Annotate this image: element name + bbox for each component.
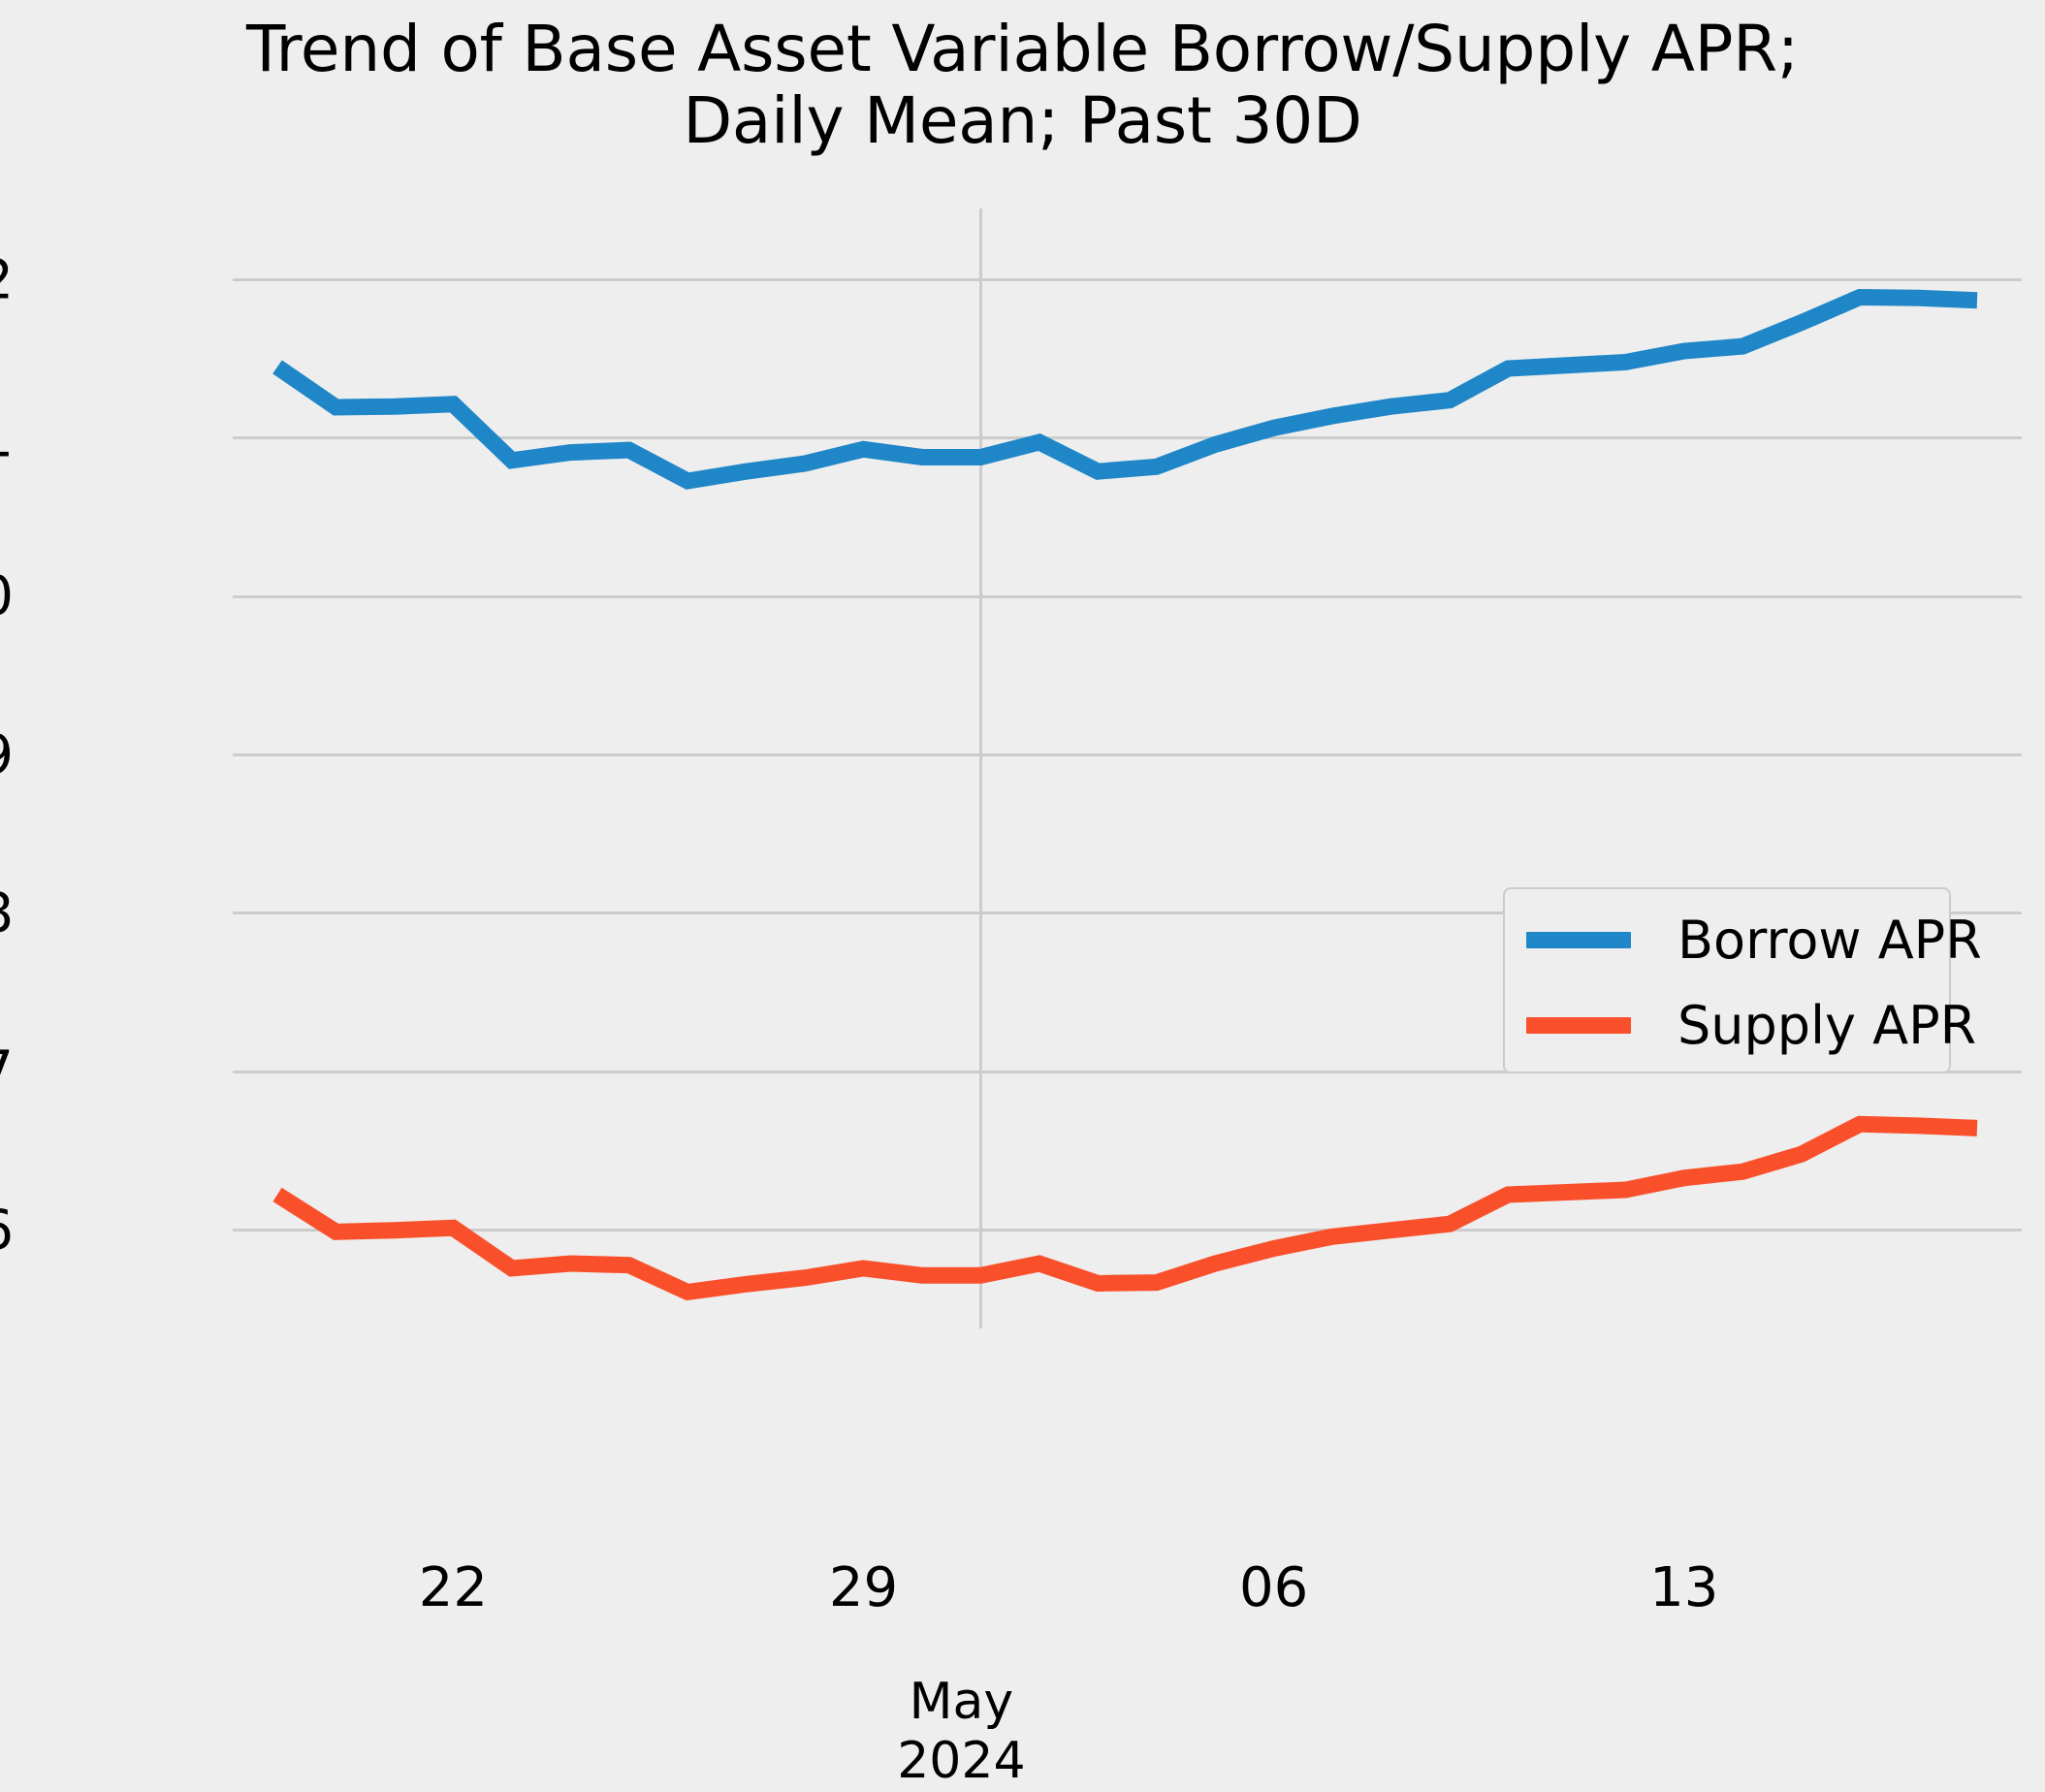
chart-title: Trend of Base Asset Variable Borrow/Supp…	[0, 14, 2045, 157]
legend-label-supply: Supply APR	[1678, 995, 1976, 1056]
x-tick-label: 13	[1649, 1556, 1718, 1619]
legend-entry-supply[interactable]: Supply APR	[1526, 996, 1976, 1054]
legend-swatch-supply-icon	[1526, 1017, 1631, 1034]
y-tick-label: 0.010	[0, 565, 14, 628]
chart-figure: Trend of Base Asset Variable Borrow/Supp…	[0, 0, 2045, 1627]
y-tick-label: 0.006	[0, 1199, 14, 1262]
chart-legend[interactable]: Borrow APR Supply APR	[1503, 887, 1951, 1073]
x-tick-label: 22	[419, 1556, 488, 1619]
x-tick-label: 06	[1239, 1556, 1308, 1619]
y-tick-label: 0.007	[0, 1040, 14, 1104]
plot-area: Borrow APR Supply APR 22290613 May 2024	[233, 208, 2022, 1328]
y-tick-label: 0.009	[0, 723, 14, 786]
legend-entry-borrow[interactable]: Borrow APR	[1526, 911, 1982, 969]
legend-label-borrow: Borrow APR	[1678, 910, 1982, 971]
series-line-supply-apr	[277, 1124, 1977, 1292]
y-tick-label: 0.008	[0, 881, 14, 944]
y-tick-label: 0.011	[0, 406, 14, 469]
y-tick-label: 0.012	[0, 248, 14, 311]
series-lines	[233, 208, 2022, 1328]
series-line-borrow-apr	[277, 297, 1977, 481]
x-axis-caption: May 2024	[897, 1673, 1025, 1792]
x-tick-label: 29	[829, 1556, 898, 1619]
legend-swatch-borrow-icon	[1526, 932, 1631, 948]
